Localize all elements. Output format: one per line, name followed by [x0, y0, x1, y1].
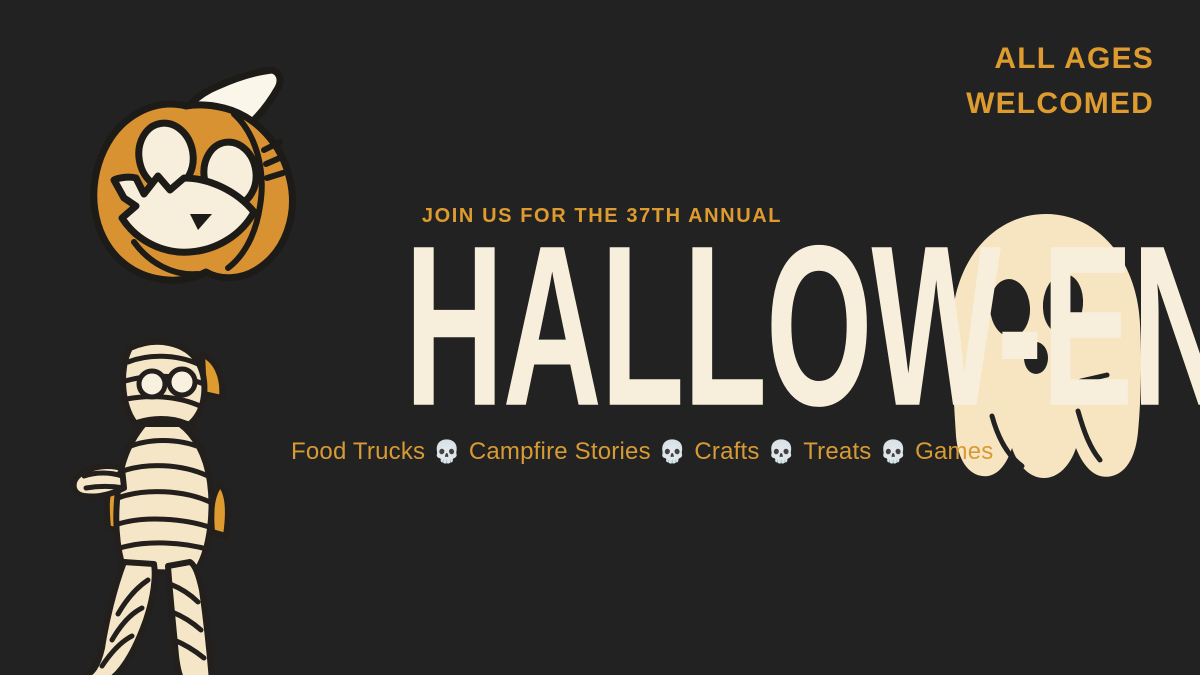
halloween-event-poster: ALL AGES WELCOMED JOIN US FOR THE 37TH A… [0, 0, 1200, 675]
mummy-icon [52, 336, 274, 675]
all-ages-note: ALL AGES WELCOMED [966, 36, 1154, 126]
event-title: HALLOW-ENO [405, 238, 796, 417]
center-text-block: JOIN US FOR THE 37TH ANNUAL HALLOW-ENO F… [290, 205, 910, 466]
all-ages-line-2: WELCOMED [966, 81, 1154, 126]
all-ages-line-1: ALL AGES [966, 36, 1154, 81]
jack-o-lantern-icon [58, 28, 314, 291]
